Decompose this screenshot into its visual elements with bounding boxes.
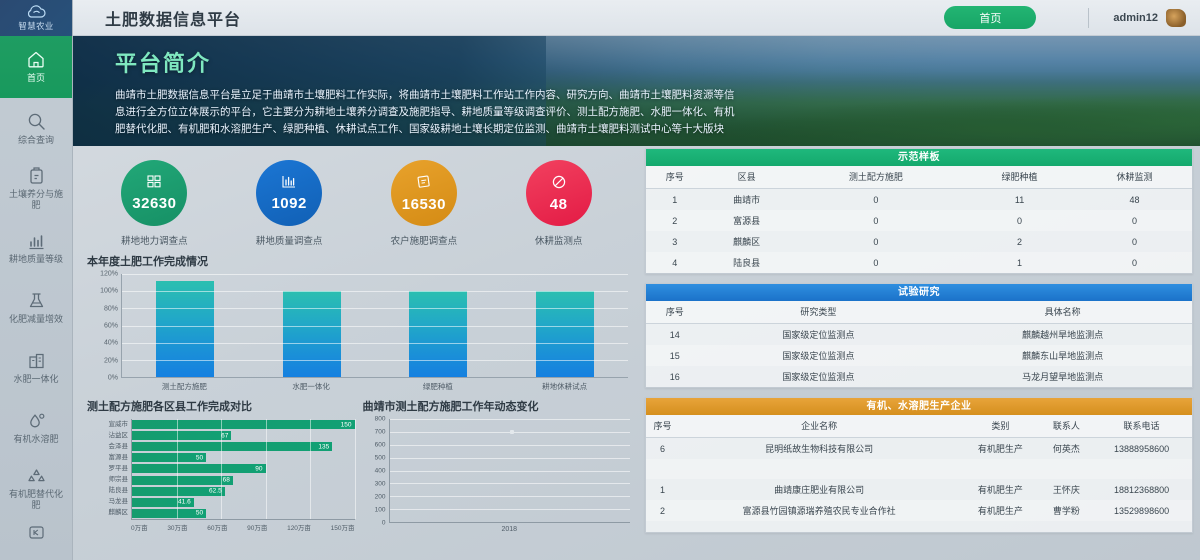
grid-line — [390, 483, 631, 484]
y-tick: 60% — [104, 323, 118, 330]
table-cell — [959, 459, 1041, 479]
table-column-header: 测土配方施肥 — [790, 166, 962, 189]
sidebar-item-water-fertilizer-integration[interactable]: 水肥一体化 — [0, 338, 72, 398]
table-column-header: 联系电话 — [1091, 415, 1192, 438]
table-title: 示范样板 — [646, 149, 1192, 166]
table-row[interactable]: 1曲靖市01148 — [646, 189, 1192, 211]
bar-row[interactable]: 62.5 — [132, 487, 355, 496]
table-cell: 国家级定位监测点 — [704, 366, 934, 387]
sidebar-item-organic-water-soluble[interactable]: 有机水溶肥 — [0, 398, 72, 458]
chart-plot-area — [389, 419, 631, 523]
table-cell — [679, 459, 959, 479]
table-cell: 0 — [790, 252, 962, 273]
table-cell: 13888958600 — [1091, 438, 1192, 460]
y-tick: 200 — [375, 494, 386, 501]
table-cell: 5 — [646, 273, 703, 274]
app-logo[interactable]: 智慧农业 — [0, 0, 72, 36]
bar-row[interactable]: 41.6 — [132, 498, 355, 507]
y-tick: 600 — [375, 442, 386, 449]
x-tick: 0万亩 — [131, 522, 148, 532]
sidebar-item-organic-replace-chemical[interactable]: 有机肥替代化肥 — [0, 458, 72, 518]
bar[interactable] — [536, 291, 594, 377]
stat-label: 农户施肥调查点 — [369, 233, 479, 247]
table-cell: 有机肥生产 — [959, 438, 1041, 460]
bar[interactable]: 50 — [132, 453, 206, 462]
bar[interactable]: 135 — [132, 442, 332, 451]
y-tick: 罗平县 — [109, 464, 129, 474]
y-axis-labels: 0%20%40%60%80%100%120% — [87, 274, 121, 378]
table-cell: 曹学粉 — [1042, 500, 1091, 521]
table-column-header: 序号 — [646, 301, 704, 324]
table-cell — [646, 459, 679, 479]
bar[interactable]: 90 — [132, 464, 266, 473]
table-header-row: 序号研究类型具体名称 — [646, 301, 1192, 324]
chart-plot-area: 1506713550906862.541.650 — [131, 419, 355, 519]
x-tick: 150万亩 — [331, 522, 355, 532]
table-body: 1曲靖市011482富源县0003麒麟区0204陆良县0105会泽县0211 — [646, 189, 1192, 275]
chart-icon — [281, 174, 297, 194]
y-tick: 300 — [375, 481, 386, 488]
table-cell: 14 — [646, 324, 704, 346]
water-drop-icon — [27, 412, 46, 430]
table-cell: 15 — [646, 345, 704, 366]
table-column-header: 研究类型 — [704, 301, 934, 324]
bar[interactable] — [283, 291, 341, 377]
y-tick: 80% — [104, 305, 118, 312]
table-row[interactable]: 5会泽县0211 — [646, 273, 1192, 274]
stat-card[interactable]: 1092 耕地质量调查点 — [234, 160, 344, 247]
bar-row[interactable]: 68 — [132, 476, 355, 485]
table-cell: 6 — [646, 438, 679, 460]
bar-value: 50 — [196, 510, 203, 517]
enterprise-table-card: 有机、水溶肥生产企业 序号企业名称类别联系人联系电话 6昆明纸故生物科技有限公司… — [645, 397, 1193, 533]
table-row[interactable]: 2富源县竹园镇源瑞养殖农民专业合作社有机肥生产曹学粉13529898600 — [646, 500, 1192, 521]
table-cell: 1 — [646, 479, 679, 500]
banner-description: 曲靖市土肥数据信息平台是立足于曲靖市土壤肥料工作实际，将曲靖市土壤肥料工作站工作… — [115, 87, 735, 138]
y-tick: 沾益区 — [109, 431, 129, 441]
cloud-icon — [25, 5, 47, 19]
table-cell: 2 — [962, 231, 1077, 252]
grid-line — [390, 445, 631, 446]
avatar[interactable] — [1166, 9, 1186, 27]
demo-sample-table-card: 示范样板 序号区县测土配方施肥绿肥种植休耕监测 1曲靖市011482富源县000… — [645, 148, 1193, 274]
bar[interactable]: 68 — [132, 476, 233, 485]
table-row[interactable]: 15国家级定位监测点麒麟东山旱地监测点 — [646, 345, 1192, 366]
bar-value: 41.6 — [178, 499, 191, 506]
table-title: 试验研究 — [646, 284, 1192, 301]
user-name[interactable]: admin12 — [1113, 12, 1158, 24]
bar[interactable]: 41.6 — [132, 498, 194, 507]
table-body: 6昆明纸故生物科技有限公司有机肥生产何英杰138889586001曲靖康庄肥业有… — [646, 438, 1192, 522]
table-cell: 何英杰 — [1042, 438, 1091, 460]
table-cell: 国家级定位监测点 — [704, 324, 934, 346]
chart-title: 本年度土肥工作完成情况 — [87, 253, 628, 269]
bar-row[interactable]: 50 — [132, 509, 355, 518]
bar-row[interactable]: 50 — [132, 453, 355, 462]
table-cell: 0 — [790, 189, 962, 211]
table-cell — [1091, 459, 1192, 479]
sidebar-item-soil-nutrient[interactable]: 土壤养分与施肥 — [0, 158, 72, 218]
table-cell: 麒麟越州旱地监测点 — [933, 324, 1192, 346]
stat-label: 耕地地力调查点 — [99, 233, 209, 247]
y-tick: 0% — [108, 375, 118, 382]
bottom-charts-row: 测土配方施肥各区县工作完成对比 宣威市沾益区会泽县富源县罗平县师宗县陆良县马龙县… — [73, 392, 640, 533]
stat-circle: 16530 — [391, 160, 457, 226]
y-tick: 40% — [104, 340, 118, 347]
stat-circle: 32630 — [121, 160, 187, 226]
x-tick: 绿肥种植 — [409, 381, 467, 392]
table-row[interactable]: 4陆良县010 — [646, 252, 1192, 273]
chart-title: 测土配方施肥各区县工作完成对比 — [87, 398, 355, 414]
stat-card[interactable]: 48 休耕监测点 — [504, 160, 614, 247]
bar-value: 50 — [196, 454, 203, 461]
sidebar-item-label: 综合查询 — [18, 135, 54, 146]
table-column-header: 休耕监测 — [1077, 166, 1192, 189]
y-tick: 120% — [100, 271, 118, 278]
table-cell: 0 — [790, 210, 962, 231]
x-axis-label: 2018 — [389, 523, 631, 533]
y-tick: 马龙县 — [109, 497, 129, 507]
table-cell: 1 — [646, 189, 703, 211]
table-cell: 麒麟区 — [703, 231, 789, 252]
table-cell: 陆良县 — [703, 252, 789, 273]
sidebar-item-label: 有机肥替代化肥 — [5, 489, 67, 511]
bar-row[interactable]: 67 — [132, 431, 355, 440]
bar-row[interactable]: 90 — [132, 464, 355, 473]
sidebar-item-comprehensive-query[interactable]: 综合查询 — [0, 98, 72, 158]
table-cell: 11 — [962, 189, 1077, 211]
grid-line — [122, 343, 628, 344]
header-right-group: 首页 admin12 — [944, 6, 1200, 29]
grid-line — [266, 419, 267, 519]
table-row[interactable]: 2富源县000 — [646, 210, 1192, 231]
y-tick: 陆良县 — [109, 486, 129, 496]
table-cell: 马龙月望旱地监测点 — [933, 366, 1192, 387]
banner-title: 平台简介 — [115, 46, 1200, 78]
table-body: 14国家级定位监测点麒麟越州旱地监测点15国家级定位监测点麒麟东山旱地监测点16… — [646, 324, 1192, 388]
x-tick: 120万亩 — [287, 522, 311, 532]
x-tick: 30万亩 — [167, 522, 187, 532]
x-tick: 耕地休耕试点 — [536, 381, 594, 392]
sidebar-item-label: 土壤养分与施肥 — [5, 189, 67, 211]
grid-line — [122, 308, 628, 309]
table-cell: 18812368800 — [1091, 479, 1192, 500]
ban-icon — [551, 174, 567, 195]
y-tick: 富源县 — [109, 453, 129, 463]
stat-label: 休耕监测点 — [504, 233, 614, 247]
sidebar-item-farmland-quality[interactable]: 耕地质量等级 — [0, 218, 72, 278]
grid-line — [122, 274, 628, 275]
y-tick: 800 — [375, 416, 386, 423]
table-row[interactable]: 6昆明纸故生物科技有限公司有机肥生产何英杰13888958600 — [646, 438, 1192, 460]
table-row[interactable]: 3麒麟区020 — [646, 231, 1192, 252]
table-cell: 会泽县 — [703, 273, 789, 274]
table-column-header: 绿肥种植 — [962, 166, 1077, 189]
table-cell: 1 — [962, 252, 1077, 273]
table-cell: 有机肥生产 — [959, 500, 1041, 521]
search-icon — [27, 112, 46, 131]
line-chart: 曲靖市测土配方施肥工作年动态变化 01002003004005006007008… — [363, 398, 631, 533]
bar[interactable]: 67 — [132, 431, 231, 440]
stat-circle: 1092 — [256, 160, 322, 226]
grid-line — [310, 419, 311, 519]
stat-value: 32630 — [132, 195, 176, 212]
grid-icon — [146, 174, 162, 194]
sidebar: 智慧农业 首页 综合查询 — [0, 0, 73, 560]
table-cell: 16 — [646, 366, 704, 387]
stat-label: 耕地质量调查点 — [234, 233, 344, 247]
table-cell: 富源县竹园镇源瑞养殖农民专业合作社 — [679, 500, 959, 521]
table-column-header: 类别 — [959, 415, 1041, 438]
chart-title: 曲靖市测土配方施肥工作年动态变化 — [363, 398, 631, 414]
sidebar-item-label: 水肥一体化 — [13, 374, 58, 385]
table-cell: 0 — [1077, 252, 1192, 273]
table-row-spacer — [646, 459, 1192, 479]
sidebar-item-label: 化肥减量增效 — [9, 314, 63, 325]
sidebar-item-home-label: 首页 — [27, 71, 45, 84]
grid-line — [390, 496, 631, 497]
table-title: 有机、水溶肥生产企业 — [646, 398, 1192, 415]
grid-line — [355, 419, 356, 519]
bar-value: 135 — [318, 443, 329, 450]
table-cell: 0 — [790, 231, 962, 252]
right-column: 示范样板 序号区县测土配方施肥绿肥种植休耕监测 1曲靖市011482富源县000… — [645, 148, 1193, 558]
enterprise-table: 序号企业名称类别联系人联系电话 6昆明纸故生物科技有限公司有机肥生产何英杰138… — [646, 415, 1192, 521]
bar-value: 62.5 — [209, 488, 222, 495]
sidebar-item-home[interactable]: 首页 — [0, 36, 72, 98]
x-tick: 60万亩 — [207, 522, 227, 532]
sidebar-item-fertilizer-reduction[interactable]: 化肥减量增效 — [0, 278, 72, 338]
stat-card[interactable]: 16530 农户施肥调查点 — [369, 160, 479, 247]
kf-icon — [28, 525, 45, 540]
bar-row[interactable]: 150 — [132, 420, 355, 429]
y-tick: 20% — [104, 357, 118, 364]
x-tick: 90万亩 — [247, 522, 267, 532]
y-tick: 会泽县 — [109, 442, 129, 452]
header-divider — [1088, 8, 1089, 28]
top-header: 土肥数据信息平台 首页 admin12 — [73, 0, 1200, 36]
stat-cards-row: 32630 耕地地力调查点 1092 耕地质量调查点 — [73, 146, 640, 247]
x-tick: 测土配方施肥 — [155, 381, 213, 392]
y-tick: 麒麟区 — [109, 508, 129, 518]
grid-line — [177, 419, 178, 519]
grid-line — [122, 326, 628, 327]
table-cell: 0 — [1077, 231, 1192, 252]
intro-banner: 平台简介 曲靖市土肥数据信息平台是立足于曲靖市土壤肥料工作实际，将曲靖市土壤肥料… — [73, 36, 1200, 146]
table-column-header: 联系人 — [1042, 415, 1091, 438]
y-tick: 700 — [375, 429, 386, 436]
home-button[interactable]: 首页 — [944, 6, 1036, 29]
table-cell: 0 — [1077, 210, 1192, 231]
bar-value: 67 — [221, 432, 228, 439]
table-cell: 3 — [646, 231, 703, 252]
table-row[interactable]: 16国家级定位监测点马龙月望旱地监测点 — [646, 366, 1192, 387]
table-cell: 有机肥生产 — [959, 479, 1041, 500]
bar[interactable]: 50 — [132, 509, 206, 518]
table-header-row: 序号企业名称类别联系人联系电话 — [646, 415, 1192, 438]
table-cell: 王怀庆 — [1042, 479, 1091, 500]
demo-sample-table: 序号区县测土配方施肥绿肥种植休耕监测 1曲靖市011482富源县0003麒麟区0… — [646, 166, 1192, 274]
table-column-header: 序号 — [646, 166, 703, 189]
grid-line — [390, 509, 631, 510]
bar-value: 150 — [341, 421, 352, 428]
table-column-header: 序号 — [646, 415, 679, 438]
chart-plot-area — [121, 274, 628, 378]
bar-value: 90 — [255, 465, 262, 472]
y-tick: 100% — [100, 288, 118, 295]
app-logo-text: 智慧农业 — [18, 20, 53, 32]
grid-line — [122, 360, 628, 361]
table-cell: 4 — [646, 252, 703, 273]
fertilizer-bottle-icon — [28, 166, 45, 185]
table-row[interactable]: 1曲靖康庄肥业有限公司有机肥生产王怀庆18812368800 — [646, 479, 1192, 500]
bar-row[interactable]: 135 — [132, 442, 355, 451]
building-icon — [27, 352, 46, 370]
left-column: 32630 耕地地力调查点 1092 耕地质量调查点 — [73, 146, 640, 560]
table-cell: 13529898600 — [1091, 500, 1192, 521]
y-tick: 师宗县 — [109, 475, 129, 485]
bar-chart-icon — [27, 233, 46, 250]
table-cell: 曲靖市 — [703, 189, 789, 211]
stat-card[interactable]: 32630 耕地地力调查点 — [99, 160, 209, 247]
y-tick: 100 — [375, 507, 386, 514]
sidebar-item-label: 耕地质量等级 — [9, 254, 63, 265]
y-tick: 500 — [375, 455, 386, 462]
y-axis-labels: 宣威市沾益区会泽县富源县罗平县师宗县陆良县马龙县麒麟区 — [87, 419, 131, 519]
table-column-header: 区县 — [703, 166, 789, 189]
table-cell: 富源县 — [703, 210, 789, 231]
y-tick: 0 — [382, 520, 386, 527]
home-icon — [26, 50, 46, 68]
table-cell: 2 — [962, 273, 1077, 274]
horizontal-bar-chart: 测土配方施肥各区县工作完成对比 宣威市沾益区会泽县富源县罗平县师宗县陆良县马龙县… — [87, 398, 355, 533]
sidebar-item-label: 有机水溶肥 — [13, 434, 58, 445]
flask-icon — [27, 292, 46, 310]
vertical-bar-chart: 本年度土肥工作完成情况 0%20%40%60%80%100%120% 测土配方施… — [73, 247, 640, 392]
table-cell: 2 — [646, 210, 703, 231]
table-cell: 曲靖康庄肥业有限公司 — [679, 479, 959, 500]
stat-value: 16530 — [402, 196, 446, 213]
data-point[interactable] — [510, 430, 514, 434]
y-tick: 宣威市 — [109, 420, 129, 430]
recycle-icon — [27, 467, 46, 485]
table-column-header: 企业名称 — [679, 415, 959, 438]
table-cell: 麒麟东山旱地监测点 — [933, 345, 1192, 366]
y-tick: 400 — [375, 468, 386, 475]
grid-line — [390, 458, 631, 459]
bar[interactable]: 150 — [132, 420, 355, 429]
document-icon — [416, 174, 432, 195]
grid-line — [122, 291, 628, 292]
bar[interactable] — [156, 281, 214, 377]
table-cell: 2 — [646, 500, 679, 521]
grid-line — [390, 419, 631, 420]
stat-value: 48 — [550, 196, 568, 213]
x-axis-labels: 0万亩30万亩60万亩90万亩120万亩150万亩 — [131, 519, 355, 532]
dashboard-page: 智慧农业 首页 综合查询 — [0, 0, 1200, 560]
sidebar-item-customer-service[interactable] — [0, 518, 72, 550]
bar[interactable] — [409, 291, 467, 377]
table-column-header: 具体名称 — [933, 301, 1192, 324]
x-axis-labels: 测土配方施肥水肥一体化绿肥种植耕地休耕试点 — [121, 381, 628, 392]
table-cell — [1042, 459, 1091, 479]
table-cell: 0 — [962, 210, 1077, 231]
bar[interactable]: 62.5 — [132, 487, 225, 496]
table-cell: 48 — [1077, 189, 1192, 211]
stat-circle: 48 — [526, 160, 592, 226]
stat-value: 1092 — [271, 195, 306, 212]
table-cell: 国家级定位监测点 — [704, 345, 934, 366]
table-header-row: 序号区县测土配方施肥绿肥种植休耕监测 — [646, 166, 1192, 189]
table-cell: 0 — [790, 273, 962, 274]
page-title: 土肥数据信息平台 — [105, 6, 241, 30]
x-tick: 水肥一体化 — [282, 381, 340, 392]
research-table-card: 试验研究 序号研究类型具体名称 14国家级定位监测点麒麟越州旱地监测点15国家级… — [645, 283, 1193, 388]
table-cell: 昆明纸故生物科技有限公司 — [679, 438, 959, 460]
y-axis-labels: 0100200300400500600700800 — [363, 419, 389, 523]
grid-line — [221, 419, 222, 519]
bar-value: 68 — [223, 477, 230, 484]
research-table: 序号研究类型具体名称 14国家级定位监测点麒麟越州旱地监测点15国家级定位监测点… — [646, 301, 1192, 387]
grid-line — [390, 471, 631, 472]
table-cell: 11 — [1077, 273, 1192, 274]
table-row[interactable]: 14国家级定位监测点麒麟越州旱地监测点 — [646, 324, 1192, 346]
